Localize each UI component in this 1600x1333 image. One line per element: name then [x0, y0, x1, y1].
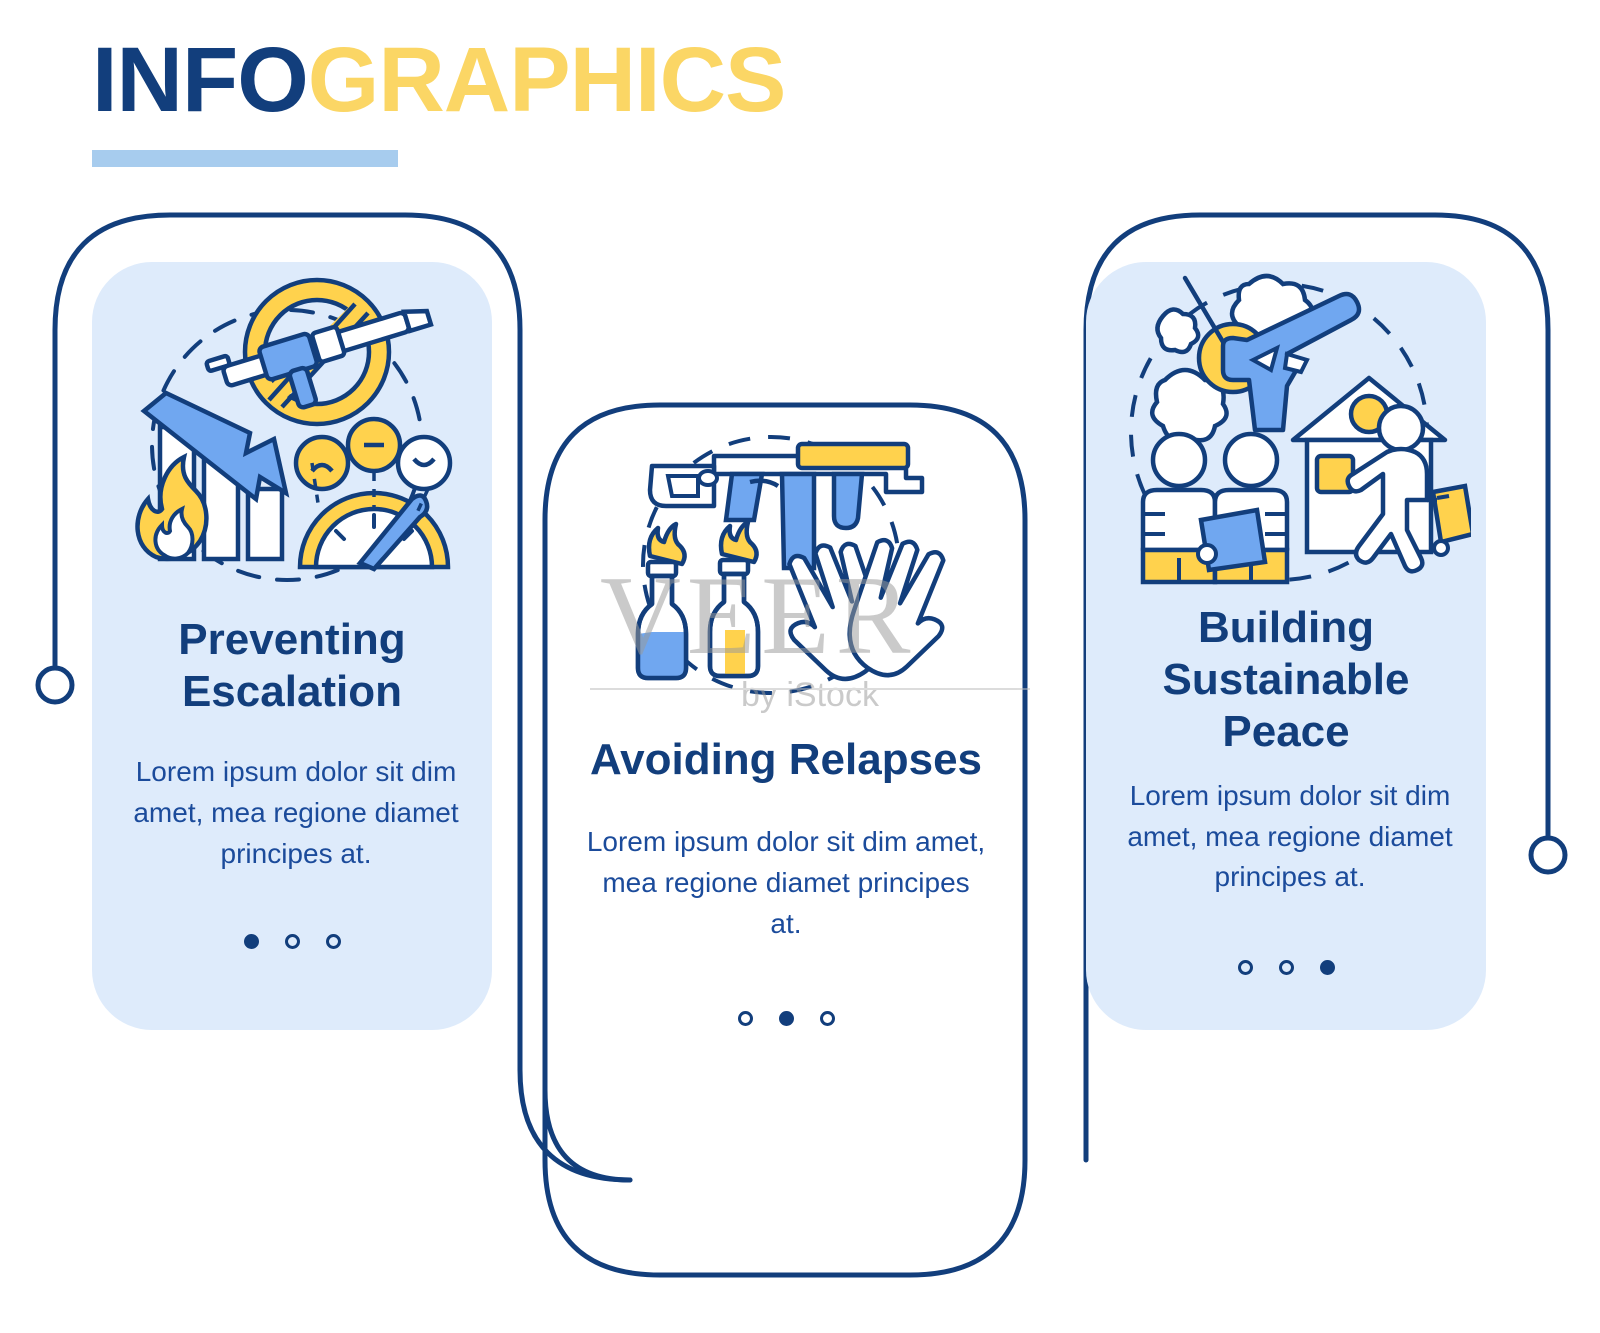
card-body-text: Lorem ipsum dolor sit dim amet, mea regi… — [572, 822, 1000, 945]
card-avoiding-relapses[interactable]: Avoiding Relapses Lorem ipsum dolor sit … — [546, 400, 1026, 1190]
card-building-sustainable-peace[interactable]: Building Sustainable Peace Lorem ipsum d… — [1086, 262, 1486, 1052]
no-weapons-declining-chart-fire-gauge-icon — [112, 267, 472, 587]
card-preventing-escalation[interactable]: Preventing Escalation Lorem ipsum dolor … — [92, 262, 492, 1052]
page-title: INFOGRAPHICS — [92, 34, 785, 126]
icon-preventing-escalation — [92, 262, 492, 592]
step-dot-2[interactable] — [1279, 960, 1294, 975]
step-dot-2[interactable] — [779, 1011, 794, 1026]
card-body-text: Lorem ipsum dolor sit dim amet, mea regi… — [1086, 776, 1494, 899]
infographic-canvas: INFOGRAPHICS — [0, 0, 1600, 1333]
card-step-dots[interactable] — [1086, 960, 1486, 975]
icon-building-sustainable-peace — [1086, 262, 1486, 592]
card-title: Preventing Escalation — [92, 614, 492, 718]
step-dot-3[interactable] — [326, 934, 341, 949]
step-dot-1[interactable] — [738, 1011, 753, 1026]
step-dot-1[interactable] — [244, 934, 259, 949]
card-title: Avoiding Relapses — [546, 734, 1026, 786]
step-dot-2[interactable] — [285, 934, 300, 949]
card-body-text: Lorem ipsum dolor sit dim amet, mea regi… — [92, 752, 500, 875]
step-dot-3[interactable] — [820, 1011, 835, 1026]
title-underline-rule — [92, 150, 398, 167]
page-title-part-1: INFO — [92, 29, 308, 131]
card-step-dots[interactable] — [546, 1011, 1026, 1026]
page-title-part-2: GRAPHICS — [308, 29, 786, 131]
step-dot-3[interactable] — [1320, 960, 1335, 975]
connector-end-node — [1531, 838, 1565, 872]
card-step-dots[interactable] — [92, 934, 492, 949]
connector-start-node — [38, 668, 72, 702]
page-header: INFOGRAPHICS — [92, 34, 785, 167]
card-title: Building Sustainable Peace — [1086, 602, 1486, 758]
pistol-smoke-people-house-refugee-icon — [1101, 262, 1471, 592]
submachine-gun-molotov-stop-hands-icon — [586, 400, 986, 700]
icon-avoiding-relapses — [546, 400, 1026, 700]
step-dot-1[interactable] — [1238, 960, 1253, 975]
